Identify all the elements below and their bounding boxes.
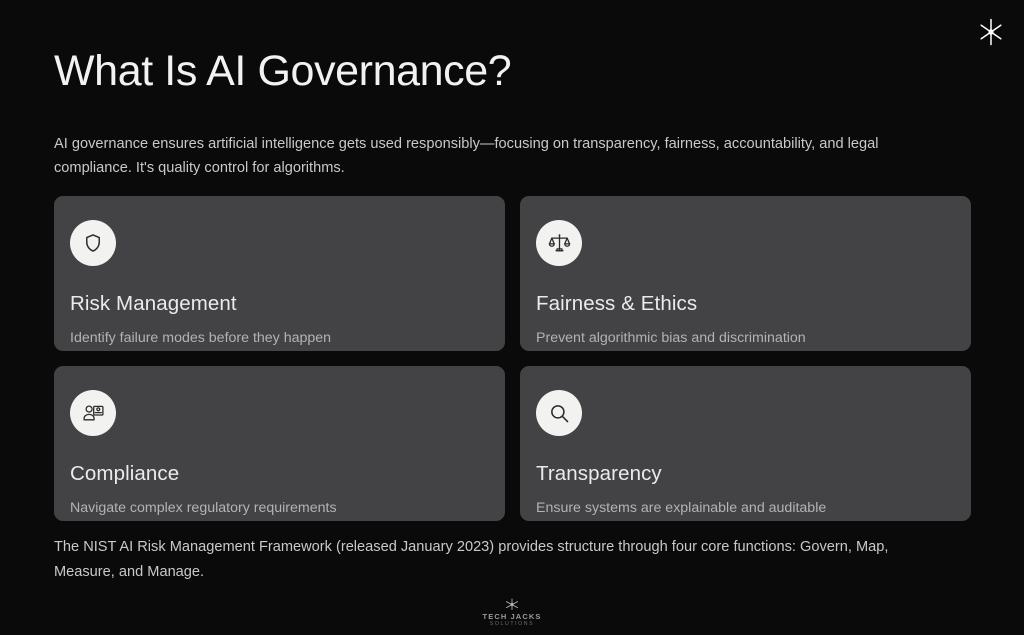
- magnifier-icon: [536, 390, 582, 436]
- footer-note: The NIST AI Risk Management Framework (r…: [54, 535, 934, 585]
- star-icon: [504, 598, 520, 611]
- feature-card-fairness-ethics[interactable]: Fairness & Ethics Prevent algorithmic bi…: [520, 196, 971, 351]
- feature-card-title: Compliance: [70, 462, 505, 487]
- feature-card-risk-management[interactable]: Risk Management Identify failure modes b…: [54, 196, 505, 351]
- brand-name: TECH JACKS: [483, 613, 542, 621]
- feature-card-title: Risk Management: [70, 292, 505, 317]
- shield-icon: [70, 220, 116, 266]
- scales-icon: [536, 220, 582, 266]
- feature-card-grid: Risk Management Identify failure modes b…: [54, 196, 971, 521]
- feature-card-compliance[interactable]: Compliance Navigate complex regulatory r…: [54, 366, 505, 521]
- feature-card-title: Fairness & Ethics: [536, 292, 971, 317]
- sparkle-icon: [971, 12, 1011, 52]
- feature-card-description: Prevent algorithmic bias and discriminat…: [536, 329, 971, 347]
- feature-card-description: Identify failure modes before they happe…: [70, 329, 505, 347]
- brand-logo: TECH JACKS SOLUTIONS: [0, 598, 1024, 627]
- feature-card-description: Ensure systems are explainable and audit…: [536, 499, 971, 517]
- feature-card-description: Navigate complex regulatory requirements: [70, 499, 505, 517]
- feature-card-transparency[interactable]: Transparency Ensure systems are explaina…: [520, 366, 971, 521]
- page-title: What Is AI Governance?: [54, 48, 511, 94]
- brand-subtitle: SOLUTIONS: [490, 622, 534, 627]
- feature-card-title: Transparency: [536, 462, 971, 487]
- slide-root: What Is AI Governance? AI governance ens…: [0, 0, 1024, 635]
- intro-paragraph: AI governance ensures artificial intelli…: [54, 132, 929, 180]
- id-badge-icon: [70, 390, 116, 436]
